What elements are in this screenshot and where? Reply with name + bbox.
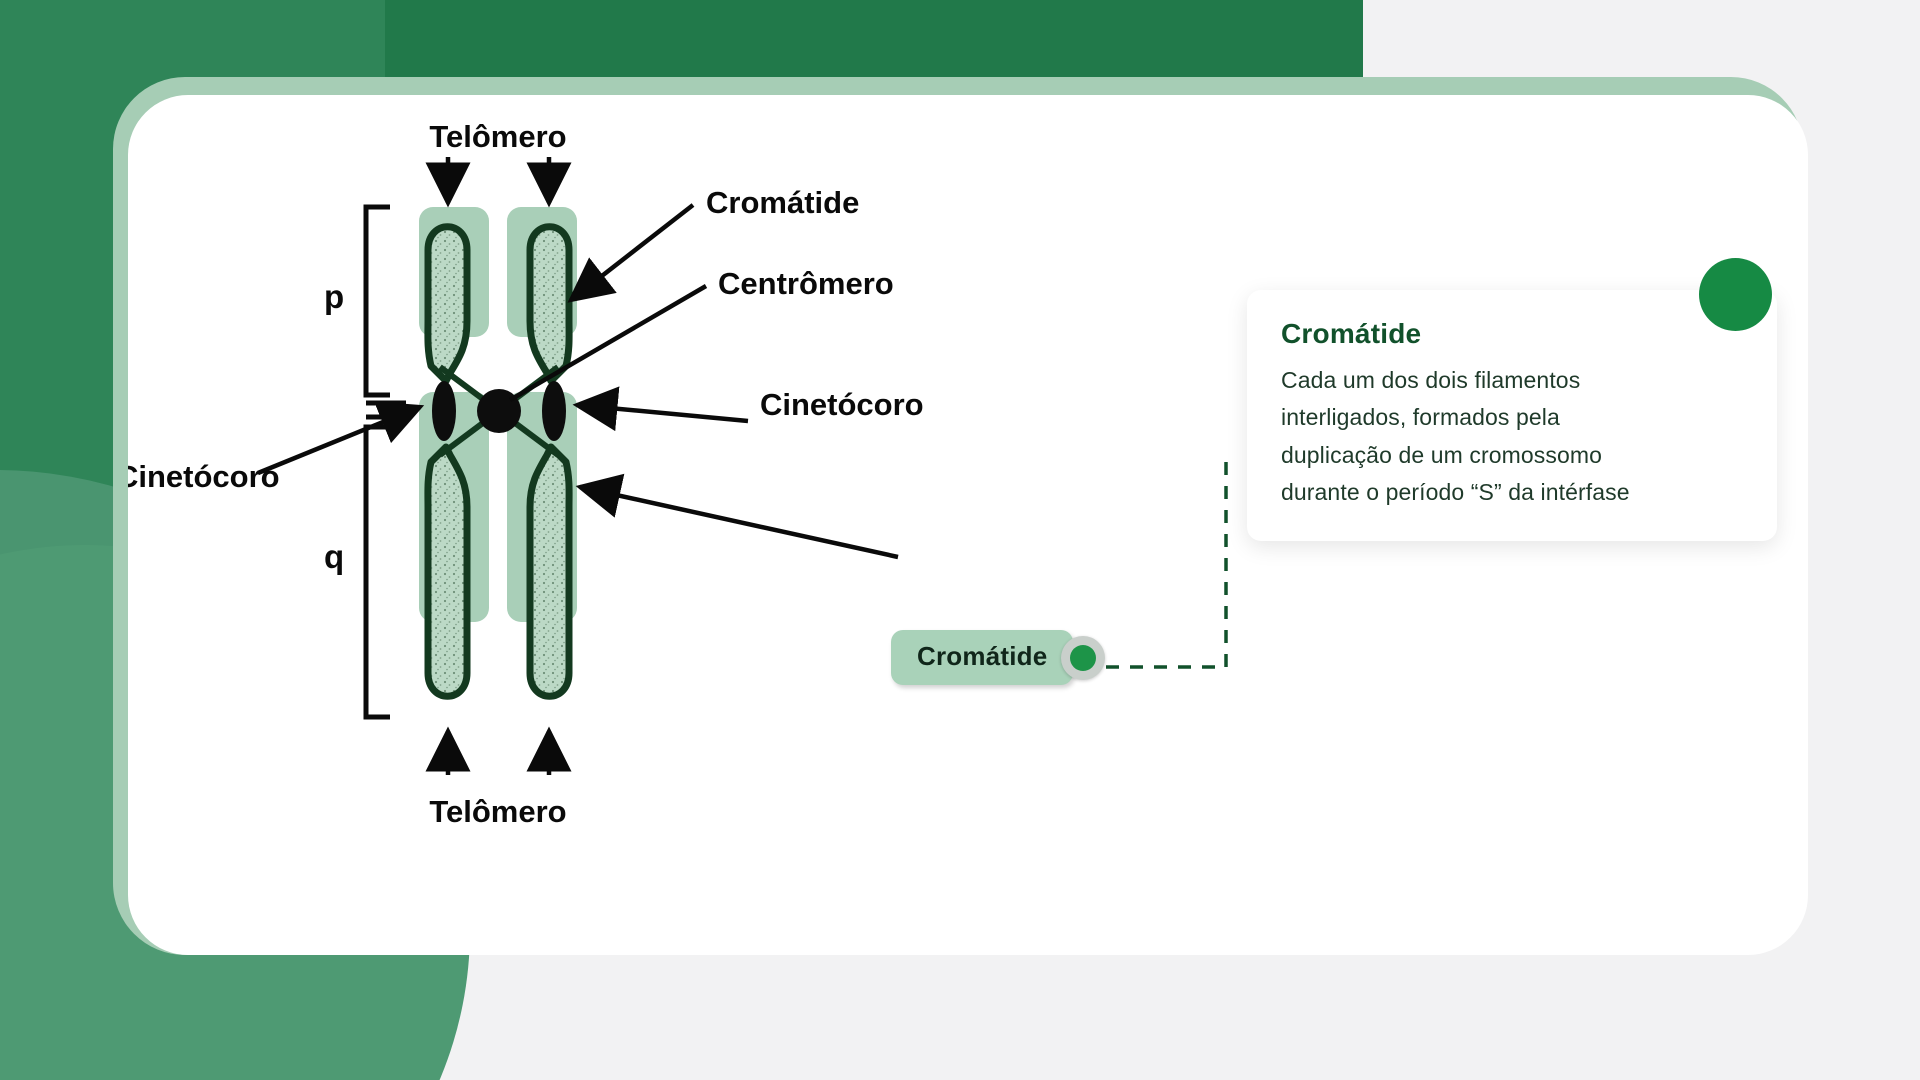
- chromatid-tooltip-card: Cromátide Cada um dos dois filamentosint…: [1247, 290, 1777, 541]
- leader-kinetochore-left: [258, 407, 420, 473]
- chromatid-arm-upper-left: [428, 227, 467, 381]
- tooltip-body: Cada um dos dois filamentosinterligados,…: [1281, 362, 1743, 511]
- hotspot-dot-icon: [1070, 645, 1096, 671]
- telomere-top-arrows: [448, 157, 549, 203]
- leader-chromatid-pill: [580, 487, 898, 557]
- tooltip-title: Cromátide: [1281, 318, 1743, 350]
- chromatid-arm-lower-right: [530, 447, 569, 696]
- arm-brackets: [366, 207, 406, 717]
- label-centromere: Centrômero: [718, 266, 894, 301]
- chromatid-arm-upper-right: [530, 227, 569, 381]
- telomere-bottom-arrows: [448, 731, 549, 775]
- label-arm-q: q: [324, 538, 344, 575]
- label-kinetochore-left: Cinetócoro: [128, 459, 280, 494]
- label-chromatid-right: Cromátide: [706, 185, 859, 220]
- label-telomere-top: Telômero: [429, 119, 566, 154]
- tooltip-body-line-1: interligados, formados pela: [1281, 399, 1743, 436]
- hotspot-marker-icon[interactable]: [1061, 636, 1105, 680]
- leader-chromatid-right: [571, 205, 693, 300]
- tooltip-body-line-0: Cada um dos dois filamentos: [1281, 362, 1743, 399]
- chromatid-pill-label[interactable]: Cromátide: [891, 630, 1073, 685]
- label-arm-p: p: [324, 278, 344, 315]
- label-telomere-bottom: Telômero: [429, 794, 566, 829]
- tooltip-body-line-3: durante o período “S” da intérfase: [1281, 474, 1743, 511]
- leader-kinetochore-right: [577, 405, 748, 421]
- chromosome-diagram: p q Telômero Telômero Cromátide Centrôme…: [128, 95, 1028, 855]
- chromatid-arm-lower-left: [428, 447, 467, 696]
- label-kinetochore-right: Cinetócoro: [760, 387, 924, 422]
- tooltip-body-line-2: duplicação de um cromossomo: [1281, 437, 1743, 474]
- decorative-green-circle-icon: [1699, 258, 1772, 331]
- chromatid-hotspot-group[interactable]: Cromátide: [891, 630, 1105, 685]
